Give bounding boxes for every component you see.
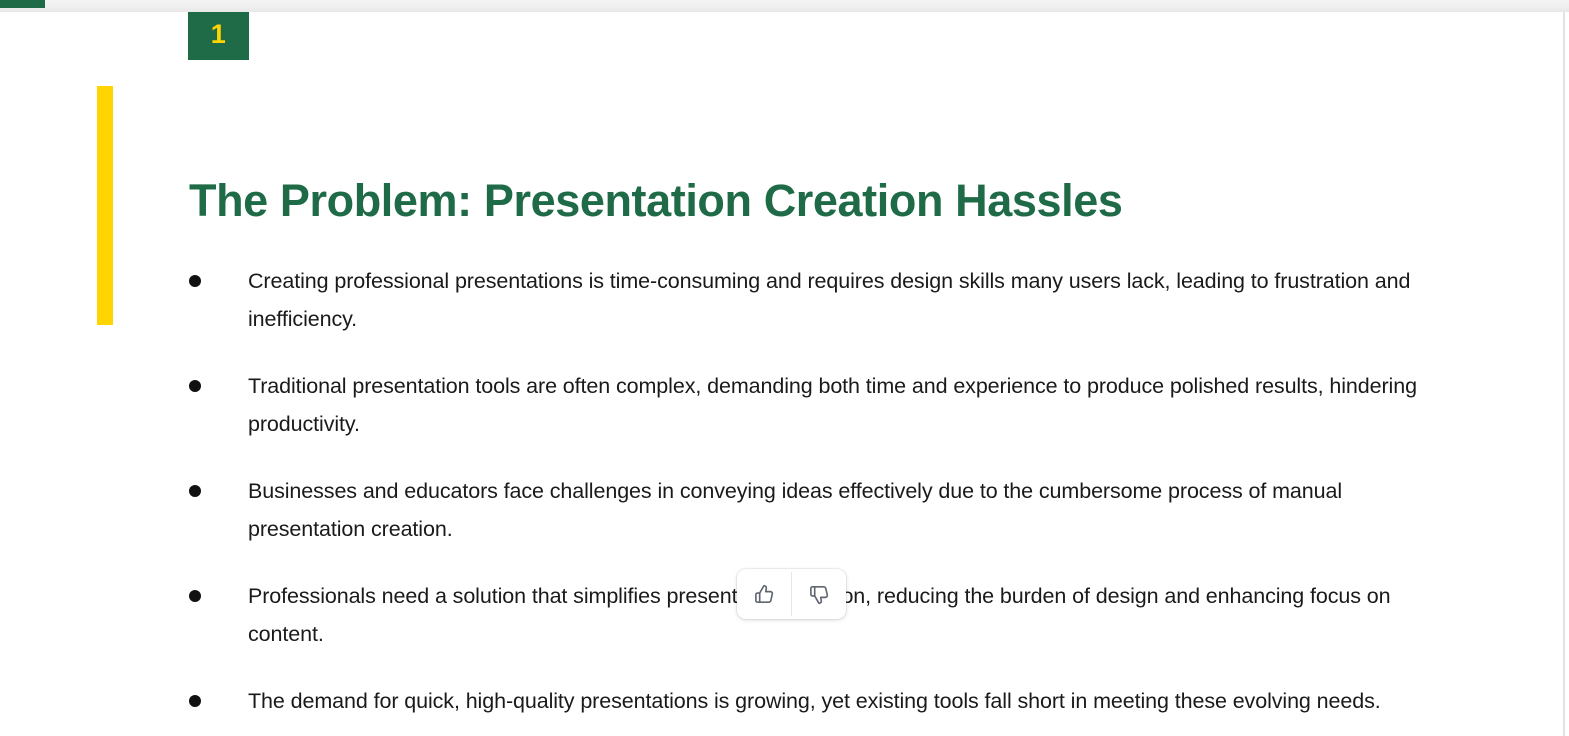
slide-canvas: 1 The Problem: Presentation Creation Has… (0, 12, 1565, 736)
bullet-dot-icon (189, 380, 201, 392)
thumbs-down-icon (808, 583, 831, 606)
bullet-dot-icon (189, 485, 201, 497)
bullet-dot-icon (189, 275, 201, 287)
bullet-dot-icon (189, 695, 201, 707)
top-progress-fill (0, 0, 45, 8)
list-item: Traditional presentation tools are often… (189, 367, 1449, 443)
bullet-text: Businesses and educators face challenges… (248, 472, 1449, 548)
bullet-text: The demand for quick, high-quality prese… (248, 682, 1449, 720)
top-progress-strip[interactable] (0, 0, 1569, 12)
page-title: The Problem: Presentation Creation Hassl… (189, 176, 1122, 226)
bullet-list: Creating professional presentations is t… (189, 262, 1449, 736)
accent-bar (97, 86, 113, 325)
bullet-text: Professionals need a solution that simpl… (248, 577, 1449, 653)
bullet-dot-icon (189, 590, 201, 602)
feedback-widget (737, 569, 846, 619)
thumbs-up-icon (753, 583, 776, 606)
list-item: The demand for quick, high-quality prese… (189, 682, 1449, 720)
bullet-text: Traditional presentation tools are often… (248, 367, 1449, 443)
list-item: Businesses and educators face challenges… (189, 472, 1449, 548)
slide-number-badge: 1 (188, 12, 249, 60)
slide-number-text: 1 (211, 21, 227, 48)
list-item: Creating professional presentations is t… (189, 262, 1449, 338)
thumbs-down-button[interactable] (792, 569, 846, 619)
bullet-text: Creating professional presentations is t… (248, 262, 1449, 338)
thumbs-up-button[interactable] (737, 569, 791, 619)
